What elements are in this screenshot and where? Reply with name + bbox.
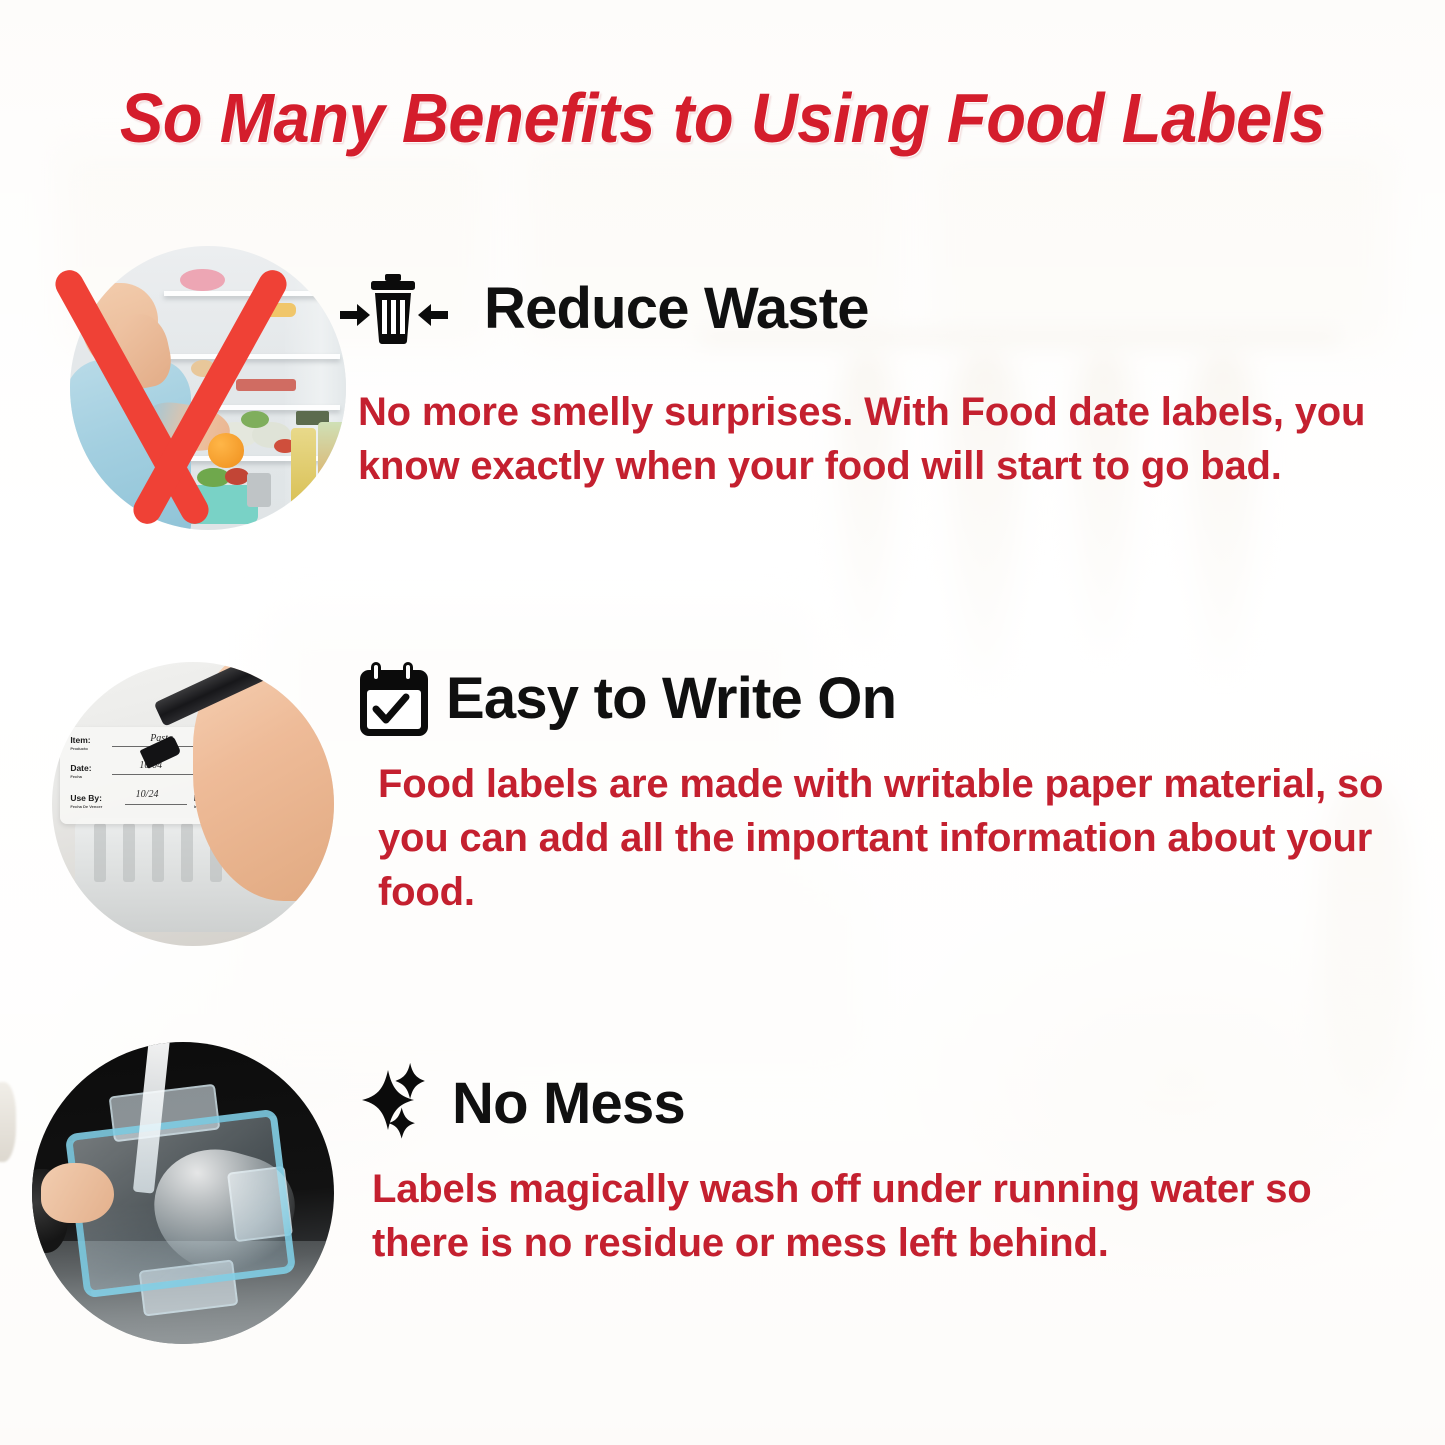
label-field-key: Date: (70, 763, 91, 773)
label-write-line (125, 804, 187, 805)
trash-can-reduce-icon (338, 272, 468, 346)
fridge-jar (318, 422, 346, 496)
fridge-can (247, 473, 272, 507)
calendar-check-icon (358, 660, 430, 738)
sparkles-icon (360, 1058, 436, 1150)
orange-fruit (208, 433, 244, 467)
dish-rack-slot (181, 823, 193, 882)
fridge-bottle (291, 428, 316, 508)
benefit-heading-row: No Mess (360, 1058, 685, 1150)
washing-container-lid-photo (32, 1042, 334, 1344)
fridge-shelf (164, 354, 341, 359)
dish-rack-slot (152, 823, 164, 882)
benefit-heading: Reduce Waste (484, 280, 869, 338)
benefit-heading-row: Reduce Waste (338, 272, 869, 346)
dark-sink-background (32, 1042, 334, 1344)
benefit-heading: No Mess (452, 1075, 685, 1133)
label-field-sub: Fecha De Vencer (70, 804, 102, 809)
page-title: So Many Benefits to Using Food Labels (51, 78, 1395, 158)
dish-rack-slot (94, 823, 106, 882)
fridge-food-item (180, 269, 224, 292)
benefit-body-text: Food labels are made with writable paper… (378, 757, 1388, 919)
hand (41, 1163, 113, 1223)
benefit-heading-row: Easy to Write On (358, 660, 896, 738)
benefit-body-text: Labels magically wash off under running … (372, 1162, 1358, 1270)
benefit-body-text: No more smelly surprises. With Food date… (358, 385, 1404, 493)
hand-writing-on-label-photo: Item: Producto Pasta Date: Fecha 10/04 U… (52, 662, 334, 946)
label-field-key: Use By: (70, 793, 102, 803)
fridge-food-item (225, 468, 250, 485)
label-field-key: Item: (70, 735, 90, 745)
fridge-food-item (241, 411, 269, 428)
fridge-food-item (236, 379, 297, 390)
infographic-canvas: So Many Benefits to Using Food Labels (0, 0, 1445, 1445)
label-field-sub: Producto (70, 746, 88, 751)
label-field-value: 10/24 (136, 789, 159, 800)
label-field-sub: Fecha (70, 774, 82, 779)
benefit-heading: Easy to Write On (446, 670, 896, 728)
dish-rack-slot (123, 823, 135, 882)
